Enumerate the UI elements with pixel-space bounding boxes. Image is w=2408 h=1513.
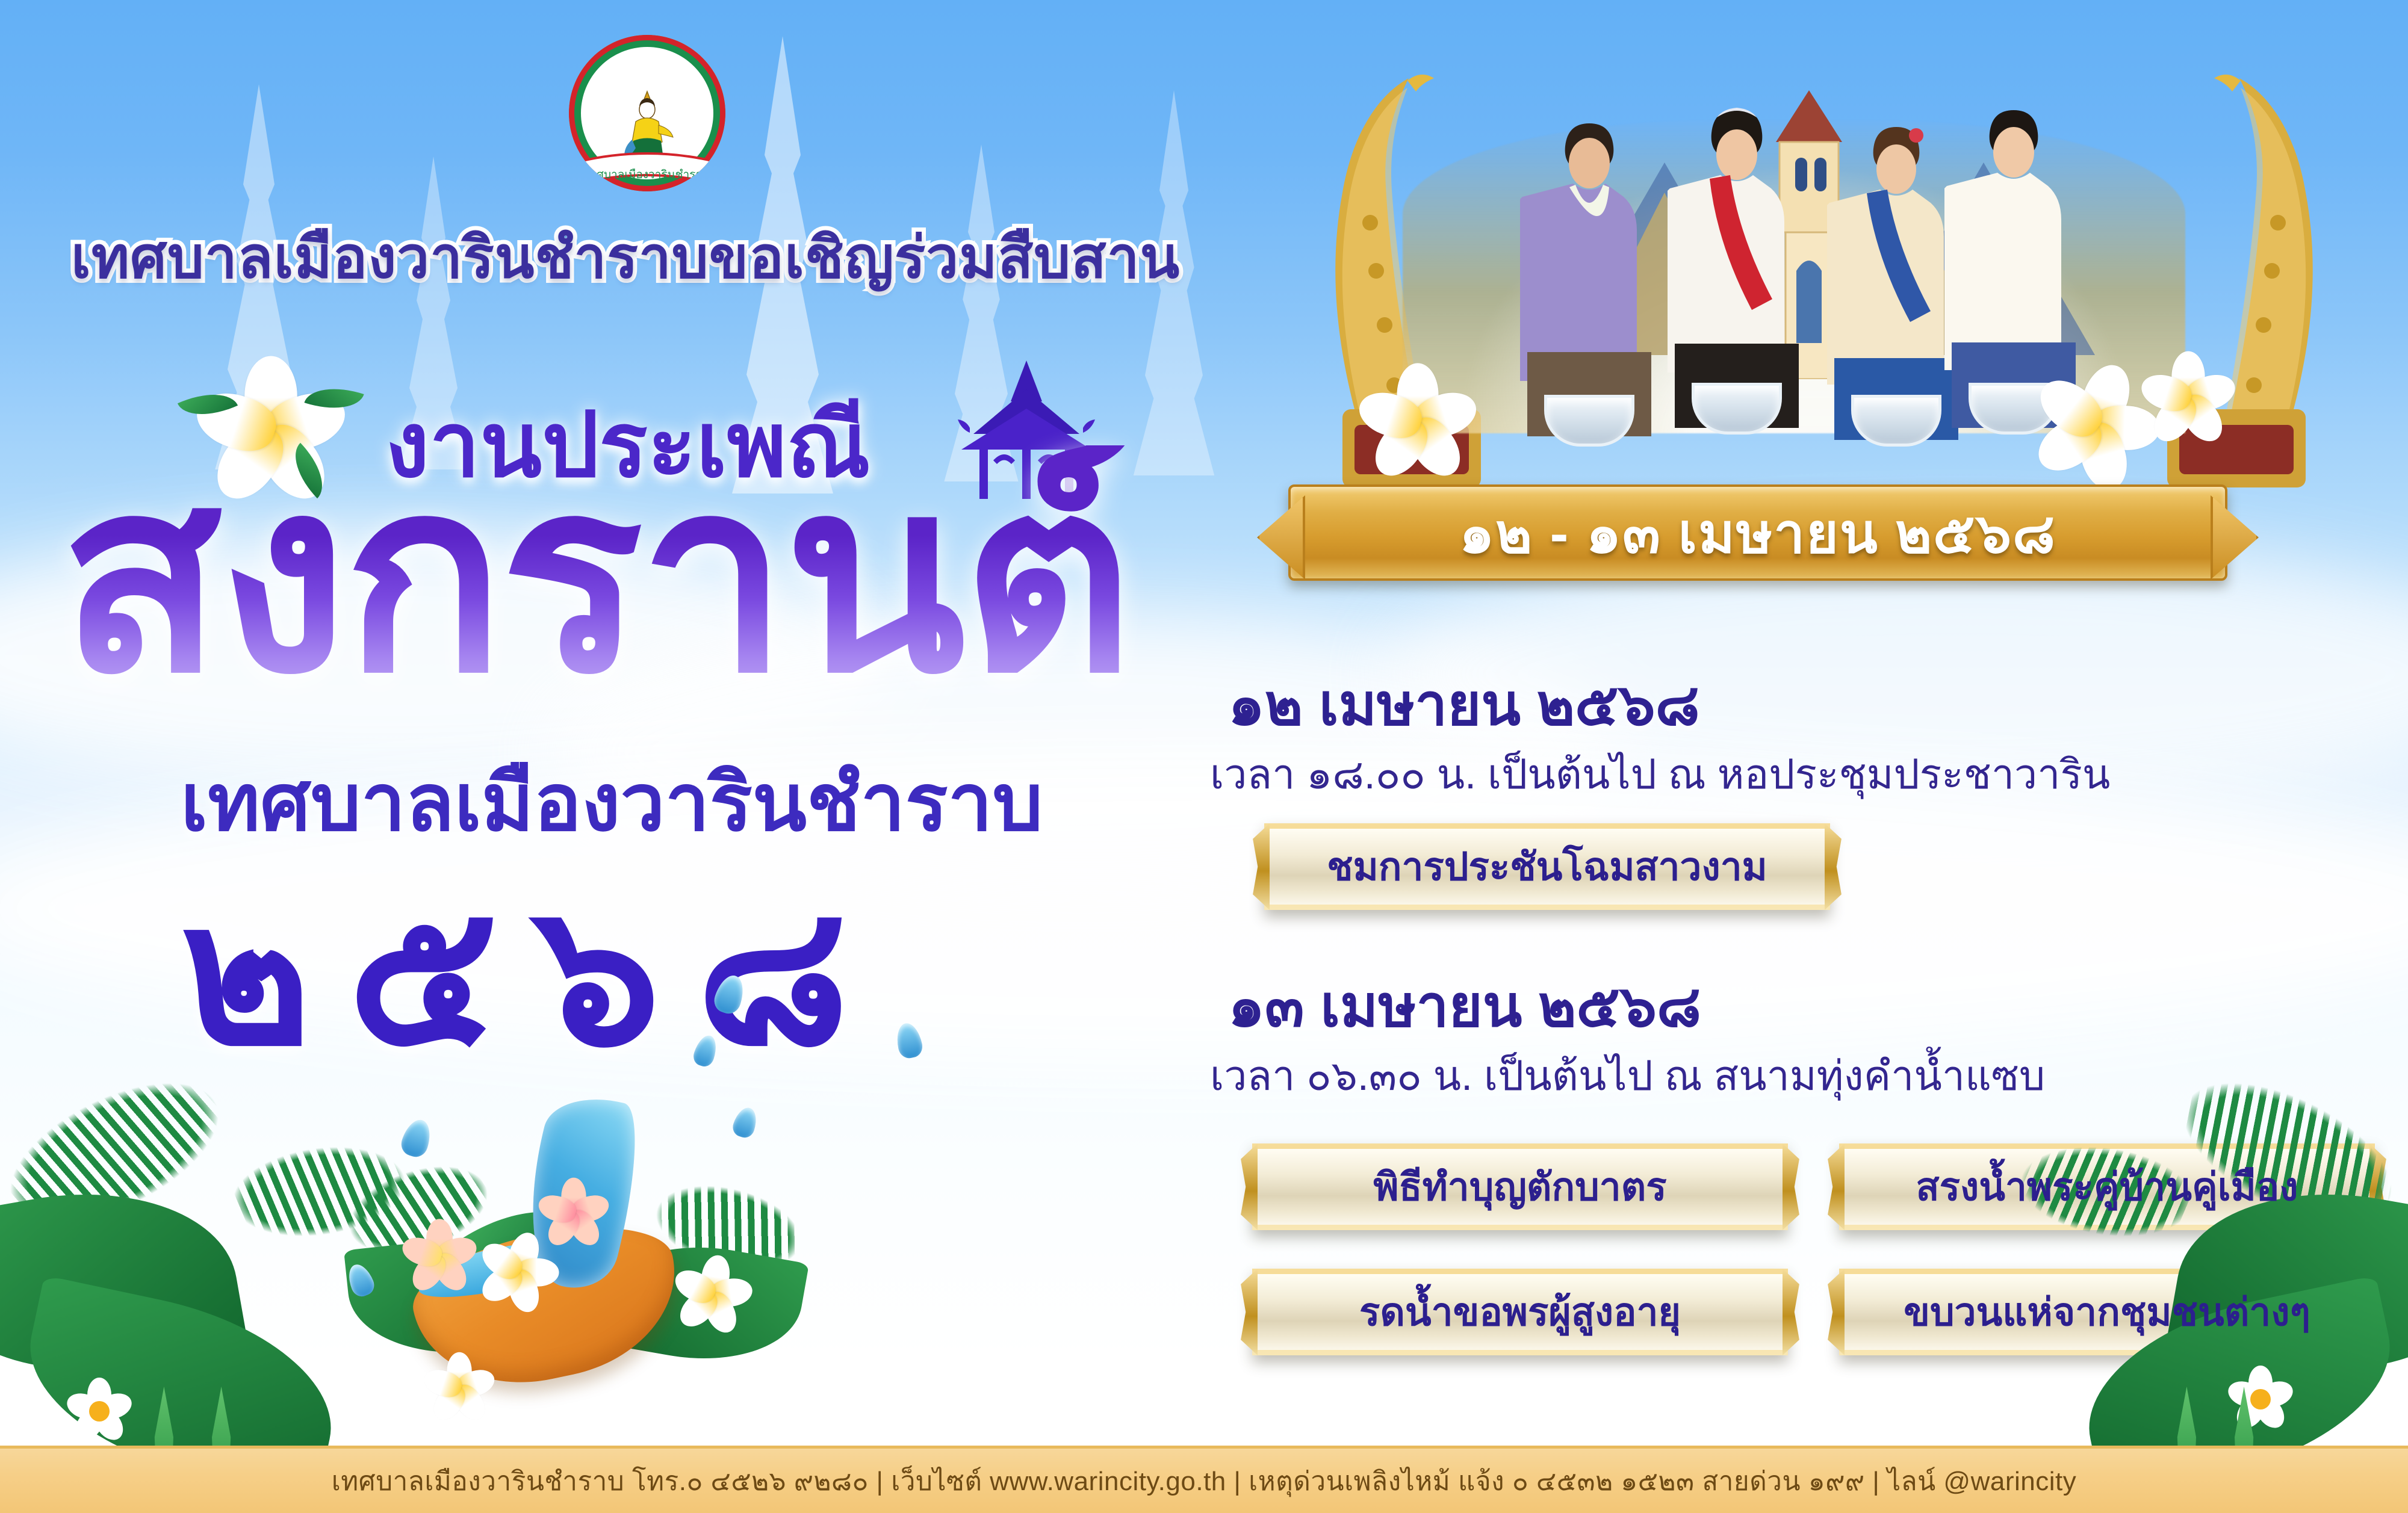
footer-contact-text: เทศบาลเมืองวารินชำราบ โทร.๐ ๔๕๒๖ ๙๒๘๐ | … bbox=[332, 1460, 2077, 1502]
activity-plaque-label: พิธีทำบุญตักบาตร bbox=[1373, 1156, 1666, 1218]
daisy-flower-icon bbox=[66, 1378, 132, 1444]
daisy-flower-icon bbox=[2227, 1366, 2294, 1432]
plumeria-flower-icon bbox=[424, 1354, 494, 1423]
footer-bar: เทศบาลเมืองวารินชำราบ โทร.๐ ๔๕๒๖ ๙๒๘๐ | … bbox=[0, 1446, 2408, 1513]
songkran-poster: เทศบาลเมืองวารินชำราบ เทศบาลเมืองวารินชำ… bbox=[0, 0, 2408, 1513]
plumeria-flower-icon bbox=[2035, 367, 2155, 487]
invitation-headline: เทศบาลเมืองวารินชำราบขอเชิญร่วมสืบสาน bbox=[71, 212, 1215, 303]
activity-plaque[interactable]: สรงน้ำพระคู่บ้านคู่เมือง bbox=[1839, 1143, 2375, 1230]
activity-plaque-label: รดน้ำขอพรผู้สูงอายุ bbox=[1359, 1281, 1681, 1343]
festival-photo-montage bbox=[1252, 12, 2396, 487]
activity-plaque-label: ขบวนแห่จากชุมชนต่างๆ bbox=[1904, 1281, 2310, 1343]
schedule-detail-1: เวลา ๑๘.๐๐ น. เป็นต้นไป ณ หอประชุมประชาว… bbox=[1210, 741, 2110, 806]
activity-plaque-label: สรงน้ำพระคู่บ้านคู่เมือง bbox=[1916, 1156, 2298, 1218]
schedule-date-1: ๑๒ เมษายน ๒๕๖๘ bbox=[1228, 659, 1700, 750]
activity-plaque[interactable]: ขบวนแห่จากชุมชนต่างๆ bbox=[1839, 1269, 2375, 1355]
plumeria-flower-icon bbox=[2143, 355, 2233, 445]
activity-plaque[interactable]: พิธีทำบุญตักบาตร bbox=[1252, 1143, 1788, 1230]
activity-plaque[interactable]: ชมการประชันโฉมสาวงาม bbox=[1264, 823, 1830, 910]
svg-text:เทศบาลเมืองวารินชำราบ: เทศบาลเมืองวารินชำราบ bbox=[585, 169, 709, 181]
plumeria-flower-icon bbox=[1361, 367, 1475, 481]
schedule-detail-2: เวลา ๐๖.๓๐ น. เป็นต้นไป ณ สนามทุ่งคำน้ำแ… bbox=[1210, 1043, 2045, 1108]
activity-plaque[interactable]: รดน้ำขอพรผู้สูงอายุ bbox=[1252, 1269, 1788, 1355]
municipal-emblem: เทศบาลเมืองวารินชำราบ bbox=[569, 35, 725, 191]
water-drop-icon bbox=[730, 1105, 760, 1140]
title-main: สงกรานต์ bbox=[60, 445, 1131, 710]
contestant-figure bbox=[1668, 99, 1806, 439]
activity-plaque-label: ชมการประชันโฉมสาวงาม bbox=[1327, 836, 1767, 897]
schedule-date-2: ๑๓ เมษายน ๒๕๖๘ bbox=[1228, 961, 1701, 1052]
date-banner: ๑๒ - ๑๓ เมษายน ๒๕๖๘ bbox=[1288, 484, 2227, 581]
plumeria-flower-icon bbox=[674, 1258, 749, 1333]
date-banner-text: ๑๒ - ๑๓ เมษายน ๒๕๖๘ bbox=[1459, 489, 2056, 577]
emblem-ribbon: เทศบาลเมืองวารินชำราบ bbox=[569, 138, 725, 187]
plumeria-flower-icon bbox=[539, 1180, 608, 1249]
contestant-figure bbox=[1520, 111, 1659, 451]
